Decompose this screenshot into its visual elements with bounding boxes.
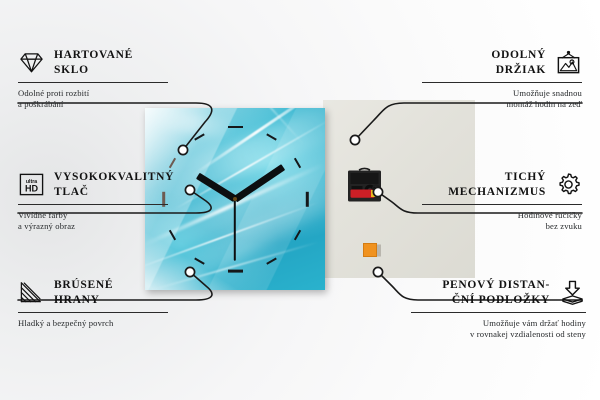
divider [411, 312, 586, 313]
feature-subtitle: Odolné proti rozbití a poškrábání [18, 88, 168, 110]
feature-title: VYSOKOKVALITNÝ TLAČ [54, 170, 174, 199]
divider [422, 204, 582, 205]
wire-endpoint-print [185, 185, 194, 194]
wire-endpoint-mechanism [373, 187, 382, 196]
wire-endpoint-edges [185, 267, 194, 276]
divider [422, 82, 582, 83]
diamond-icon [18, 49, 45, 76]
feature-polished-edges: BRÚSENÉ HRANY Hladký a bezpečný povrch [18, 278, 168, 329]
picture-frame-hanger-icon [555, 49, 582, 76]
feature-foam-spacers: PENOVÝ DISTAN- ČNÍ PODLOŽKY Umožňuje vám… [411, 278, 586, 340]
feature-tempered-glass: HARTOVANÉ SKLO Odolné proti rozbití a po… [18, 48, 168, 110]
svg-text:HD: HD [25, 184, 39, 194]
feature-subtitle: Umožňuje vám držať hodiny v rovnakej vzd… [411, 318, 586, 340]
gear-icon [555, 171, 582, 198]
feature-title: ODOLNÝ DRŽIAK [491, 48, 546, 77]
feature-subtitle: Vivídne farby a výrazný obraz [18, 210, 168, 232]
wire-endpoint-holder [350, 135, 359, 144]
feature-silent-mechanism: TICHÝ MECHANIZMUS Hodinové ručičky bez z… [422, 170, 582, 232]
wire-endpoint-glass [178, 145, 187, 154]
divider [18, 204, 168, 205]
ultra-hd-icon: ultra HD [18, 171, 45, 198]
feature-title: BRÚSENÉ HRANY [54, 278, 113, 307]
infographic-canvas: HARTOVANÉ SKLO Odolné proti rozbití a po… [0, 0, 600, 400]
wire-endpoint-pads [373, 267, 382, 276]
brushed-edges-icon [18, 279, 45, 306]
feature-subtitle: Hladký a bezpečný povrch [18, 318, 168, 329]
feature-subtitle: Hodinové ručičky bez zvuku [422, 210, 582, 232]
feature-subtitle: Umožňuje snadnou montáž hodin na zeď [422, 88, 582, 110]
feature-title: PENOVÝ DISTAN- ČNÍ PODLOŽKY [442, 278, 550, 307]
feature-title: TICHÝ MECHANIZMUS [448, 170, 546, 199]
divider [18, 82, 168, 83]
divider [18, 312, 168, 313]
foam-spacer-icon [559, 279, 586, 306]
feature-title: HARTOVANÉ SKLO [54, 48, 133, 77]
feature-durable-holder: ODOLNÝ DRŽIAK Umožňuje snadnou montáž ho… [422, 48, 582, 110]
feature-high-quality-print: ultra HD VYSOKOKVALITNÝ TLAČ Vivídne far… [18, 170, 168, 232]
